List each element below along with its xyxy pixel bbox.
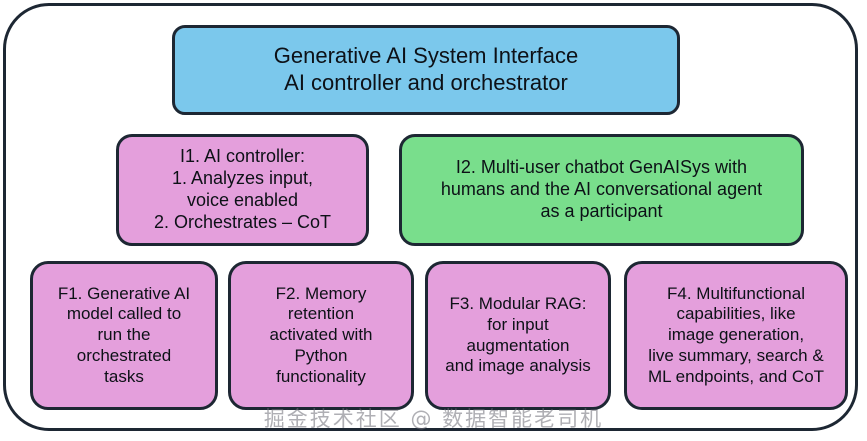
node-system-interface-header: Generative AI System Interface AI contro… xyxy=(172,25,680,115)
node-f2-label: F2. Memory retention activated with Pyth… xyxy=(264,284,379,388)
node-i1-ai-controller: I1. AI controller: 1. Analyzes input, vo… xyxy=(116,134,369,246)
node-f3-label: F3. Modular RAG: for input augmentation … xyxy=(439,294,597,377)
node-i1-label: I1. AI controller: 1. Analyzes input, vo… xyxy=(148,146,337,234)
node-header-label: Generative AI System Interface AI contro… xyxy=(268,43,584,97)
diagram-outer-frame: Generative AI System Interface AI contro… xyxy=(3,3,858,431)
node-f2-memory-retention: F2. Memory retention activated with Pyth… xyxy=(228,261,414,410)
node-f4-multifunctional-capabilities: F4. Multifunctional capabilities, like i… xyxy=(624,261,848,410)
node-f1-generative-ai-model: F1. Generative AI model called to run th… xyxy=(30,261,218,410)
node-f4-label: F4. Multifunctional capabilities, like i… xyxy=(642,284,830,388)
node-f1-label: F1. Generative AI model called to run th… xyxy=(52,284,196,388)
diagram-canvas: Generative AI System Interface AI contro… xyxy=(0,0,867,441)
node-i2-label: I2. Multi-user chatbot GenAISys with hum… xyxy=(435,157,768,223)
node-f3-modular-rag: F3. Modular RAG: for input augmentation … xyxy=(425,261,611,410)
node-i2-multiuser-chatbot: I2. Multi-user chatbot GenAISys with hum… xyxy=(399,134,804,246)
